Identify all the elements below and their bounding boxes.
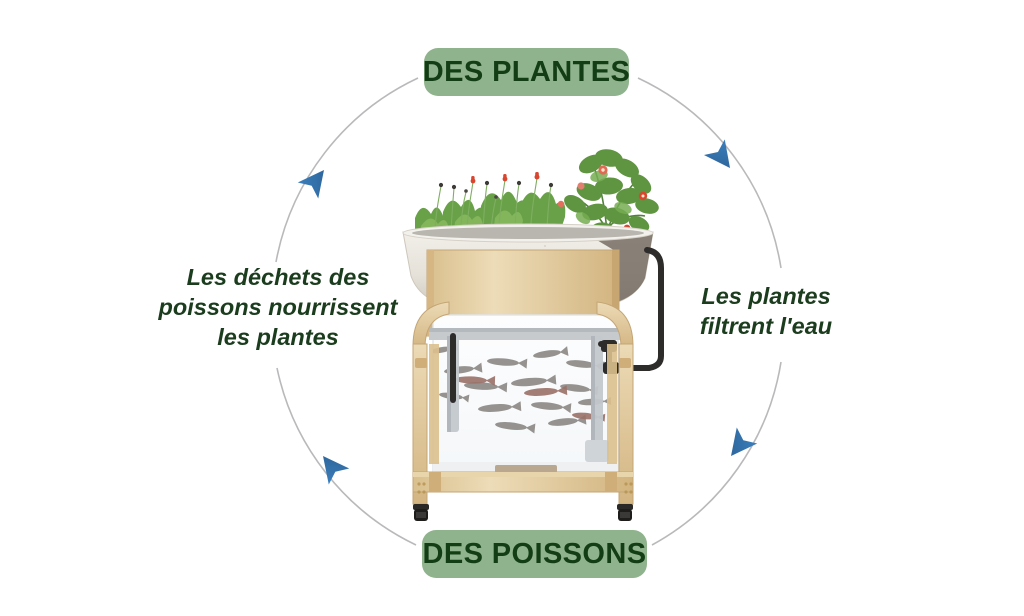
infographic-canvas: DES PLANTES DES POISSONS Les déchets des…: [0, 0, 1024, 616]
casters: [413, 504, 633, 521]
badge-des-poissons[interactable]: DES POISSONS: [422, 530, 647, 578]
caption-right: Les plantes filtrent l'eau: [676, 281, 856, 341]
caption-left: Les déchets des poissons nourrissent les…: [150, 262, 406, 352]
arrow-bottom-right: [721, 428, 757, 464]
arrow-top-left: [298, 162, 334, 198]
arrow-bottom-left: [313, 448, 349, 484]
aquaponic-garden-unit: [395, 100, 685, 525]
badge-des-plantes[interactable]: DES PLANTES: [424, 48, 629, 96]
fish-tank: [429, 315, 622, 477]
